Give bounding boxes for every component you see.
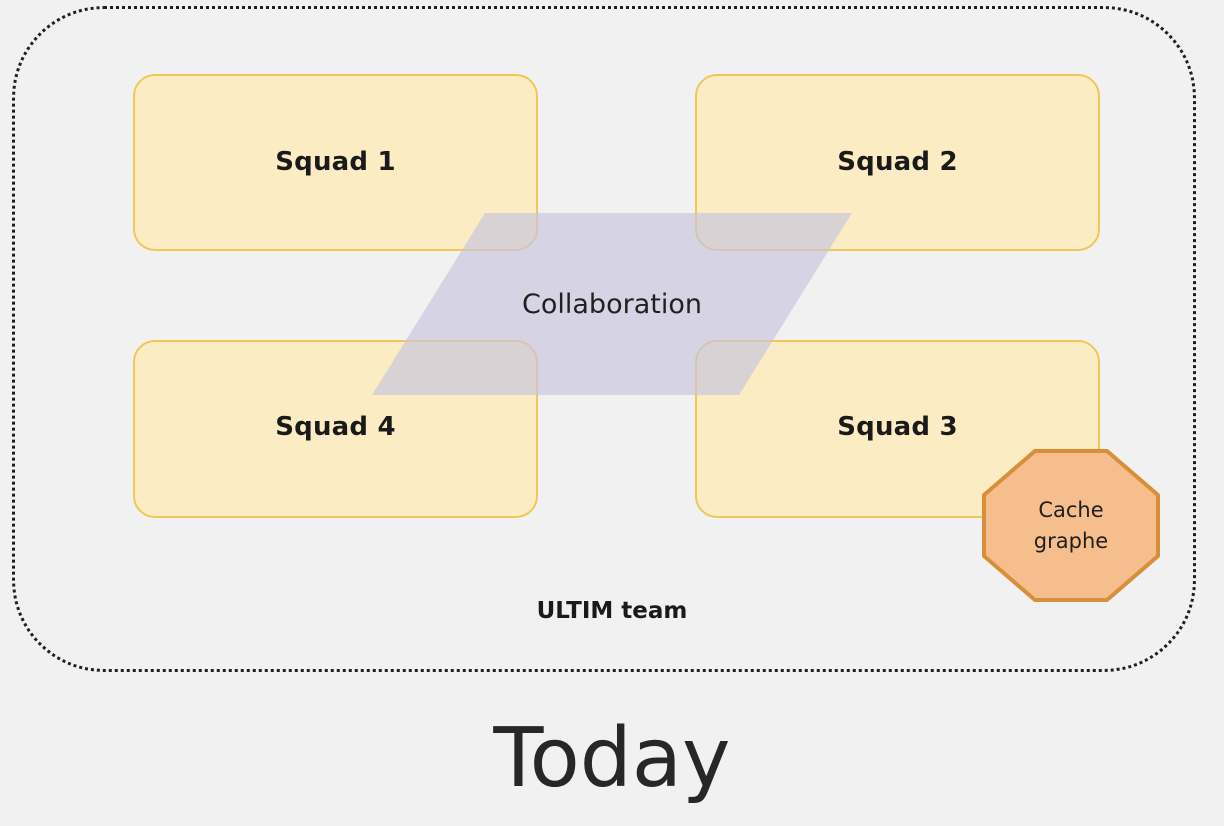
diagram-canvas: Squad 1 Squad 2 Squad 4 Squad 3 Collabor… xyxy=(0,0,1224,826)
squad-box-1-label: Squad 1 xyxy=(275,149,396,175)
squad-box-3-label: Squad 3 xyxy=(837,414,958,440)
squad-box-2-label: Squad 2 xyxy=(837,149,958,175)
cache-graphe-line-1: Cache xyxy=(1038,495,1103,525)
cache-graphe-node[interactable]: Cache graphe xyxy=(982,449,1160,602)
today-caption: Today xyxy=(0,714,1224,804)
squad-box-1[interactable]: Squad 1 xyxy=(133,74,538,251)
cache-graphe-line-2: graphe xyxy=(1034,526,1108,556)
cache-graphe-label: Cache graphe xyxy=(982,449,1160,602)
squad-box-2[interactable]: Squad 2 xyxy=(695,74,1100,251)
squad-box-4-label: Squad 4 xyxy=(275,414,396,440)
squad-box-4[interactable]: Squad 4 xyxy=(133,340,538,518)
